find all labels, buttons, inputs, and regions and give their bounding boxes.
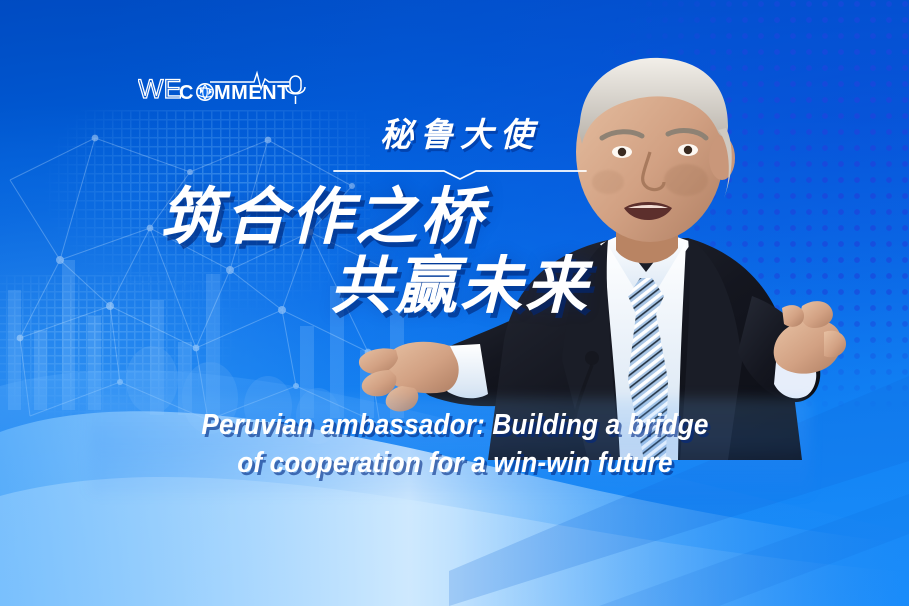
logo-comment-text-2: MMENT [214,82,290,104]
kicker-block: 秘鲁大使 [330,118,590,181]
we-comment-logo[interactable]: WE C MMENT [138,68,318,110]
subtitle-block: Peruvian ambassador: Building a bridge o… [100,406,811,483]
logo-we-text: WE [138,74,182,104]
news-graphic-banner: WE C MMENT 秘鲁大使 [0,0,909,606]
we-comment-logo-mark: WE C MMENT [138,68,318,110]
headline-line-2: 共赢未来 [330,255,620,318]
headline-line-1: 筑合作之桥 [160,186,620,249]
globe-icon [196,83,214,101]
chevron-down-divider-icon [330,167,590,181]
kicker-text: 秘鲁大使 [330,118,590,151]
subtitle-line-2: of cooperation for a win-win future [100,444,811,482]
subtitle-line-1: Peruvian ambassador: Building a bridge [100,406,811,444]
headline-block: 筑合作之桥 共赢未来 [0,186,620,318]
logo-comment-text: C [179,82,194,104]
kicker-divider [330,167,590,181]
